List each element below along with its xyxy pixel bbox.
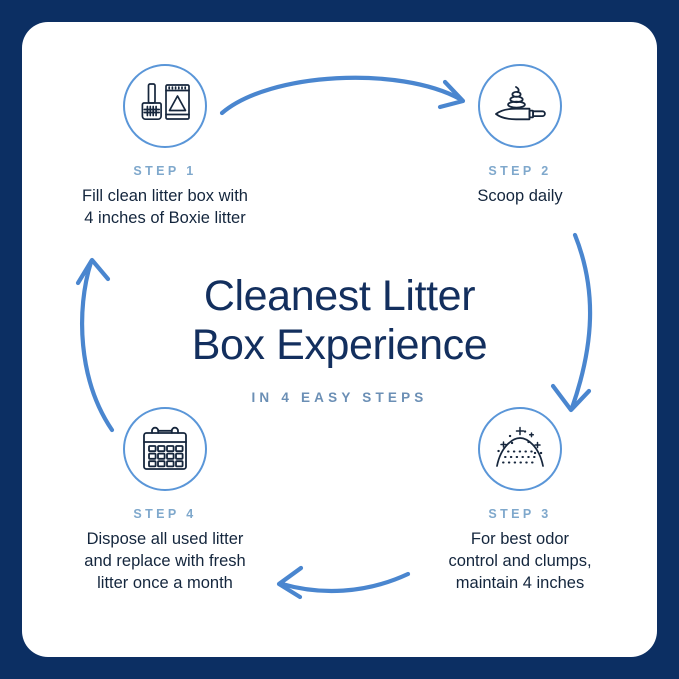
step-4-icon-circle <box>123 407 207 491</box>
step-2-block: STEP 2 Scoop daily <box>395 64 645 207</box>
step-1-block: STEP 1 Fill clean litter box with 4 inch… <box>40 64 290 229</box>
step-1-label: STEP 1 <box>40 164 290 178</box>
scoop-with-waste-icon <box>492 82 548 130</box>
step-1-icon-circle <box>123 64 207 148</box>
calendar-icon <box>140 425 190 473</box>
litter-scoop-and-bag-icon <box>138 81 192 131</box>
step-2-label: STEP 2 <box>395 164 645 178</box>
step-2-description: Scoop daily <box>395 185 645 207</box>
step-3-label: STEP 3 <box>395 507 645 521</box>
step-4-label: STEP 4 <box>40 507 290 521</box>
step-1-description: Fill clean litter box with 4 inches of B… <box>40 185 290 229</box>
step-3-description: For best odor control and clumps, mainta… <box>395 528 645 594</box>
litter-mound-sparkle-icon <box>491 426 549 472</box>
step-2-icon-circle <box>478 64 562 148</box>
step-3-block: STEP 3 For best odor control and clumps,… <box>395 407 645 594</box>
infographic-canvas: STEP 1 Fill clean litter box with 4 inch… <box>0 0 679 679</box>
step-3-icon-circle <box>478 407 562 491</box>
center-title-block: Cleanest Litter Box Experience IN 4 EASY… <box>90 272 589 405</box>
step-4-block: STEP 4 Dispose all used litter and repla… <box>40 407 290 594</box>
step-4-description: Dispose all used litter and replace with… <box>40 528 290 594</box>
page-title: Cleanest Litter Box Experience <box>90 272 589 370</box>
page-subtitle: IN 4 EASY STEPS <box>90 390 589 405</box>
